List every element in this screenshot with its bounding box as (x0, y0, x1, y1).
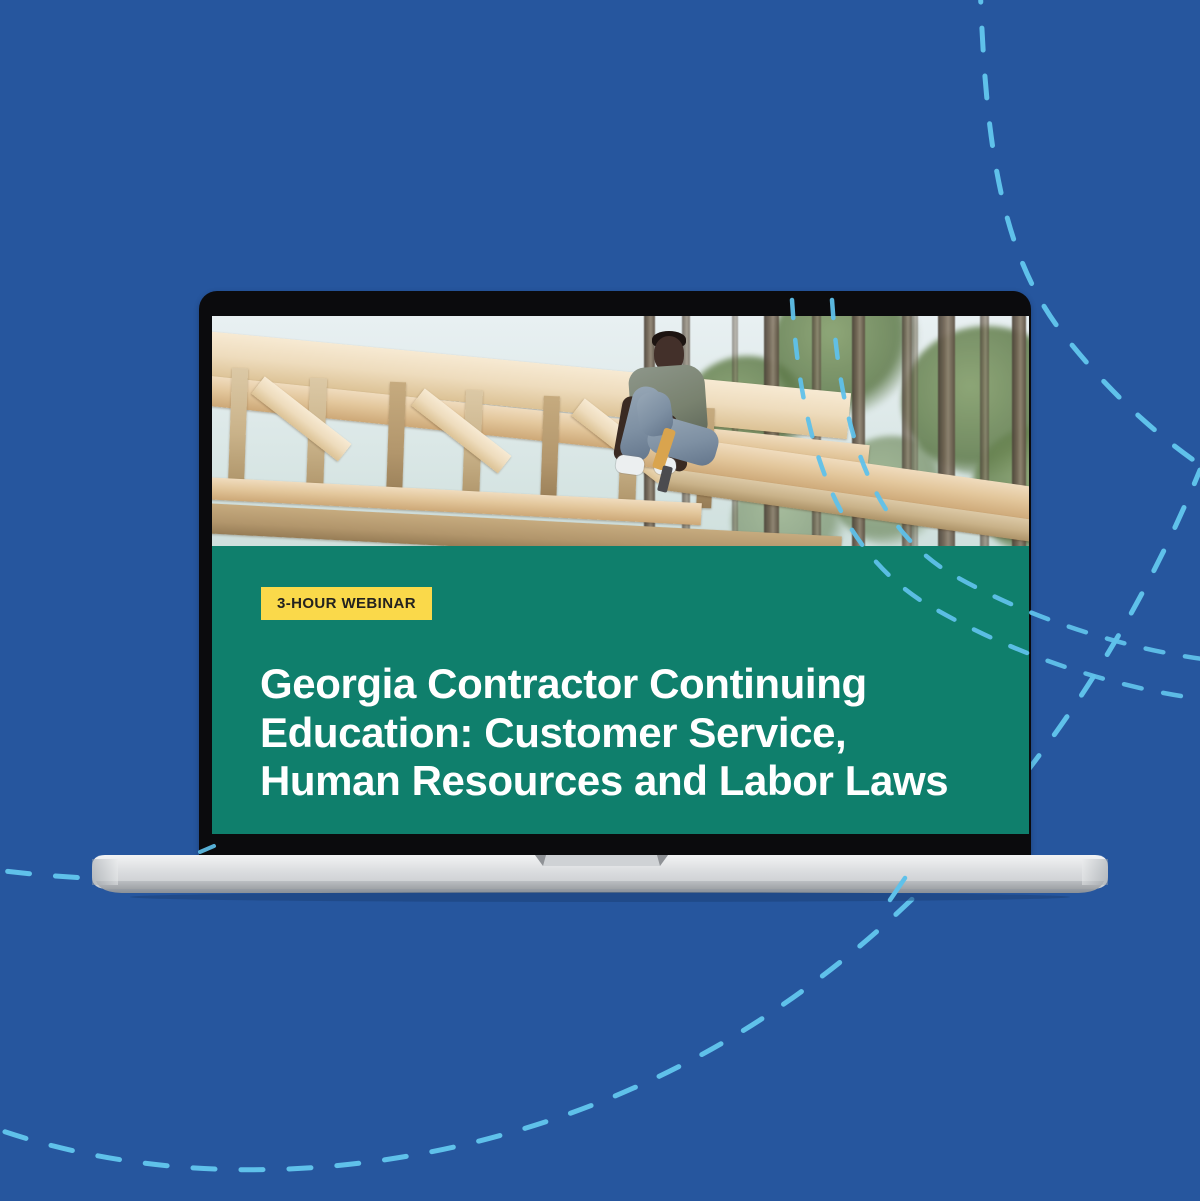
laptop-device: 3-HOUR WEBINAR Georgia Contractor Contin… (0, 0, 1200, 1201)
page-title-line-2: Education: Customer Service, (260, 709, 960, 758)
construction-worker-figure (608, 330, 748, 520)
worker-glove-left (615, 454, 645, 476)
page-root: 3-HOUR WEBINAR Georgia Contractor Contin… (0, 0, 1200, 1201)
laptop-screen: 3-HOUR WEBINAR Georgia Contractor Contin… (212, 316, 1029, 834)
page-title-line-3: Human Resources and Labor Laws (260, 757, 960, 806)
promo-panel: 3-HOUR WEBINAR Georgia Contractor Contin… (212, 546, 1029, 834)
page-title-line-1: Georgia Contractor Continuing (260, 660, 960, 709)
page-title: Georgia Contractor Continuing Education:… (260, 660, 960, 806)
webinar-duration-badge: 3-HOUR WEBINAR (261, 587, 432, 620)
laptop-base (0, 853, 1200, 913)
hero-photo (212, 316, 1029, 546)
